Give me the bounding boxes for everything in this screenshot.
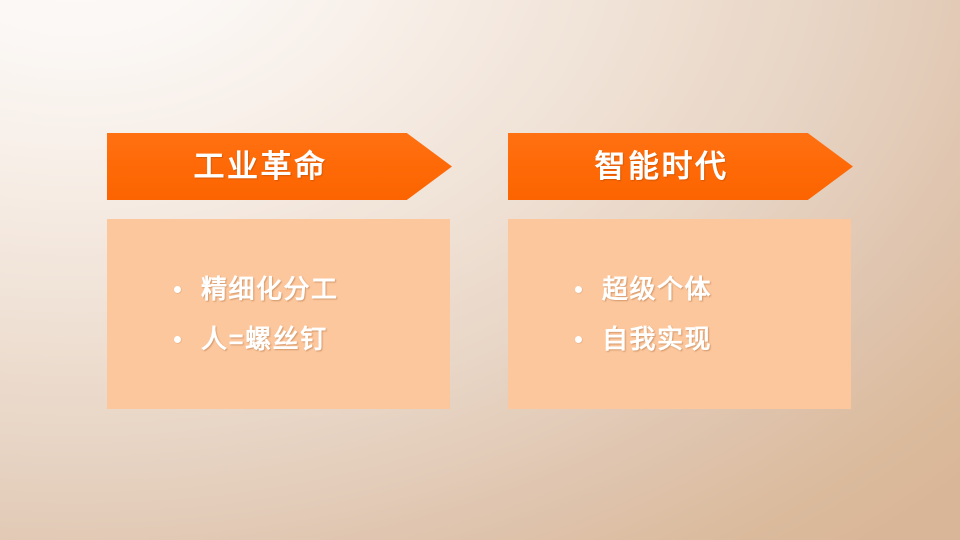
- list-item: 自我实现: [575, 326, 790, 352]
- arrow-banner-title: 智能时代: [595, 151, 729, 182]
- slide-canvas: 工业革命 精细化分工 人=螺丝钉 智能时代 超级个体 自我: [0, 0, 960, 540]
- content-panel-industrial-revolution: 精细化分工 人=螺丝钉: [107, 219, 450, 409]
- arrow-banner-intelligent-era[interactable]: 智能时代: [508, 133, 853, 200]
- list-item: 人=螺丝钉: [174, 326, 389, 352]
- arrow-banner-industrial-revolution[interactable]: 工业革命: [107, 133, 452, 200]
- bullet-dot-icon: [575, 336, 582, 343]
- list-item-label: 自我实现: [602, 326, 712, 352]
- list-item-label: 人=螺丝钉: [201, 326, 328, 352]
- bullet-dot-icon: [174, 286, 181, 293]
- bullet-dot-icon: [575, 286, 582, 293]
- arrow-banner-title: 工业革命: [194, 151, 328, 182]
- list-item: 精细化分工: [174, 276, 389, 302]
- bullet-dot-icon: [174, 336, 181, 343]
- list-item-label: 精细化分工: [201, 276, 339, 302]
- list-item-label: 超级个体: [602, 276, 712, 302]
- list-item: 超级个体: [575, 276, 790, 302]
- content-panel-intelligent-era: 超级个体 自我实现: [508, 219, 851, 409]
- column-intelligent-era: 智能时代 超级个体 自我实现: [508, 133, 853, 200]
- column-industrial-revolution: 工业革命 精细化分工 人=螺丝钉: [107, 133, 452, 200]
